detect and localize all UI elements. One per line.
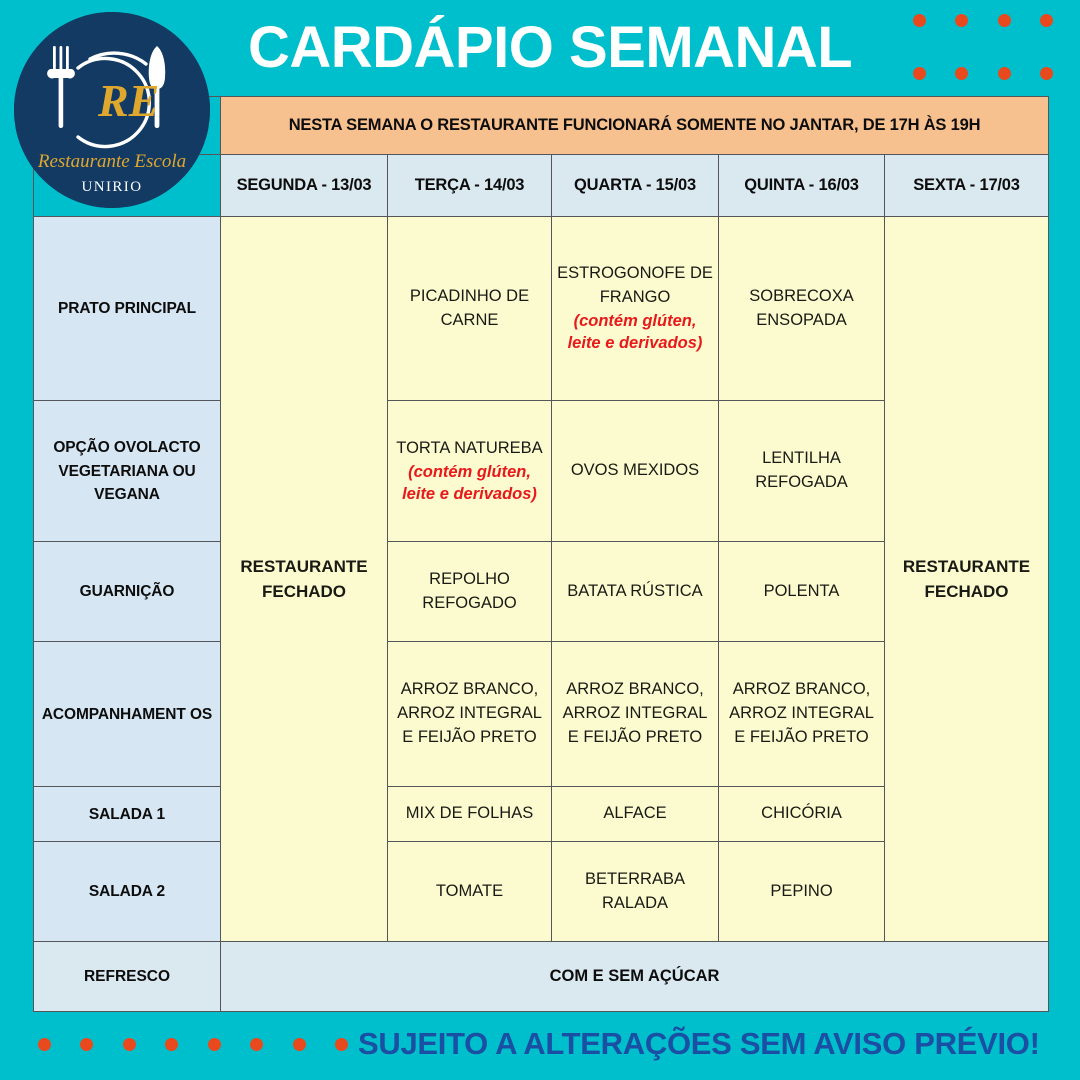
meal-cell: SOBRECOXA ENSOPADA <box>719 217 885 401</box>
refresco-value: COM E SEM AÇÚCAR <box>221 942 1049 1012</box>
decorative-dot <box>80 1038 93 1051</box>
closed-line-2: FECHADO <box>262 582 346 601</box>
footer-bar: SUJEITO A ALTERAÇÕES SEM AVISO PRÉVIO! <box>0 1012 1080 1080</box>
meal-cell: CHICÓRIA <box>719 787 885 842</box>
decorative-dot <box>123 1038 136 1051</box>
restaurant-logo: RE Restaurante Escola UNIRIO <box>14 12 210 208</box>
meal-cell: OVOS MEXIDOS <box>552 401 719 542</box>
decorative-dot <box>955 67 968 80</box>
row-label-guarnicao: GUARNIÇÃO <box>34 542 221 642</box>
meal-cell: REPOLHO REFOGADO <box>388 542 552 642</box>
decorative-dot <box>293 1038 306 1051</box>
meal-text: OVOS MEXIDOS <box>571 461 699 479</box>
meal-cell: ESTROGONOFE DE FRANGO (contém glúten, le… <box>552 217 719 401</box>
row-label-acompanhamentos: ACOMPANHAMENT OS <box>34 642 221 787</box>
closed-cell-segunda: RESTAURANTE FECHADO <box>221 217 388 942</box>
decorative-dot <box>250 1038 263 1051</box>
meal-cell: LENTILHA REFOGADA <box>719 401 885 542</box>
meal-cell: ARROZ BRANCO, ARROZ INTEGRAL E FEIJÃO PR… <box>552 642 719 787</box>
meal-cell: ALFACE <box>552 787 719 842</box>
meal-text: ALFACE <box>603 804 666 822</box>
meal-cell: POLENTA <box>719 542 885 642</box>
meal-text: PEPINO <box>770 882 832 900</box>
meal-text: SOBRECOXA ENSOPADA <box>749 287 854 329</box>
meal-text: TORTA NATUREBA <box>396 439 542 457</box>
weekly-menu-table: NESTA SEMANA O RESTAURANTE FUNCIONARÁ SO… <box>33 96 1049 1012</box>
day-header-segunda: SEGUNDA - 13/03 <box>221 155 388 217</box>
decorative-dot <box>955 14 968 27</box>
meal-text: BATATA RÚSTICA <box>567 582 702 600</box>
decorative-dot <box>335 1038 348 1051</box>
closed-line-1: RESTAURANTE <box>903 557 1030 576</box>
footer-disclaimer: SUJEITO A ALTERAÇÕES SEM AVISO PRÉVIO! <box>358 1020 1058 1068</box>
decorative-dot <box>998 14 1011 27</box>
row-label-opcao-vegetariana: OPÇÃO OVOLACTO VEGETARIANA OU VEGANA <box>34 401 221 542</box>
meal-cell: PICADINHO DE CARNE <box>388 217 552 401</box>
meal-cell: BETERRABA RALADA <box>552 842 719 942</box>
meal-text: ARROZ BRANCO, ARROZ INTEGRAL E FEIJÃO PR… <box>563 680 708 746</box>
closed-line-2: FECHADO <box>924 582 1008 601</box>
decorative-dot <box>1040 14 1053 27</box>
row-label-salada-2: SALADA 2 <box>34 842 221 942</box>
meal-cell: ARROZ BRANCO, ARROZ INTEGRAL E FEIJÃO PR… <box>388 642 552 787</box>
row-label-refresco: REFRESCO <box>34 942 221 1012</box>
refresco-row: REFRESCO COM E SEM AÇÚCAR <box>34 942 1049 1012</box>
decorative-dot <box>1040 67 1053 80</box>
allergen-note: (contém glúten, leite e derivados) <box>393 461 546 506</box>
decorative-dot <box>913 14 926 27</box>
row-label-prato-principal: PRATO PRINCIPAL <box>34 217 221 401</box>
logo-monogram: RE <box>97 75 159 126</box>
meal-cell: MIX DE FOLHAS <box>388 787 552 842</box>
decorative-dot <box>208 1038 221 1051</box>
logo-institution: UNIRIO <box>82 179 143 195</box>
meal-cell: BATATA RÚSTICA <box>552 542 719 642</box>
meal-text: TOMATE <box>436 882 503 900</box>
meal-text: ESTROGONOFE DE FRANGO <box>557 264 713 306</box>
menu-table-container: NESTA SEMANA O RESTAURANTE FUNCIONARÁ SO… <box>33 96 1048 1012</box>
meal-text: POLENTA <box>764 582 840 600</box>
meal-text: PICADINHO DE CARNE <box>410 287 529 329</box>
meal-text: LENTILHA REFOGADA <box>755 449 848 491</box>
allergen-line-1: (contém glúten, <box>408 463 531 481</box>
day-header-quarta: QUARTA - 15/03 <box>552 155 719 217</box>
decorative-dot <box>913 67 926 80</box>
decorative-dot <box>165 1038 178 1051</box>
meal-cell: ARROZ BRANCO, ARROZ INTEGRAL E FEIJÃO PR… <box>719 642 885 787</box>
decorative-dot <box>38 1038 51 1051</box>
meal-text: REPOLHO REFOGADO <box>422 570 516 612</box>
notice-banner: NESTA SEMANA O RESTAURANTE FUNCIONARÁ SO… <box>221 97 1049 155</box>
day-header-quinta: QUINTA - 16/03 <box>719 155 885 217</box>
logo-name: Restaurante Escola <box>37 151 186 172</box>
weekly-menu-poster: CARDÁPIO SEMANAL <box>0 0 1080 1080</box>
meal-text: CHICÓRIA <box>761 804 842 822</box>
meal-cell: TOMATE <box>388 842 552 942</box>
closed-line-1: RESTAURANTE <box>240 557 367 576</box>
meal-cell: PEPINO <box>719 842 885 942</box>
allergen-line-2: leite e derivados) <box>568 334 703 352</box>
footer-dot-row <box>38 1038 348 1051</box>
row-label-salada-1: SALADA 1 <box>34 787 221 842</box>
meal-cell: TORTA NATUREBA (contém glúten, leite e d… <box>388 401 552 542</box>
closed-cell-sexta: RESTAURANTE FECHADO <box>885 217 1049 942</box>
decorative-dot <box>998 67 1011 80</box>
meal-text: BETERRABA RALADA <box>585 870 685 912</box>
allergen-note: (contém glúten, leite e derivados) <box>557 310 713 355</box>
allergen-line-1: (contém glúten, <box>574 312 697 330</box>
header-dot-grid <box>898 14 1068 80</box>
meal-text: ARROZ BRANCO, ARROZ INTEGRAL E FEIJÃO PR… <box>397 680 542 746</box>
meal-text: MIX DE FOLHAS <box>406 804 533 822</box>
day-header-terca: TERÇA - 14/03 <box>388 155 552 217</box>
day-header-sexta: SEXTA - 17/03 <box>885 155 1049 217</box>
table-row: PRATO PRINCIPAL RESTAURANTE FECHADO PICA… <box>34 217 1049 401</box>
page-title: CARDÁPIO SEMANAL <box>248 6 878 90</box>
allergen-line-2: leite e derivados) <box>402 485 537 503</box>
meal-text: ARROZ BRANCO, ARROZ INTEGRAL E FEIJÃO PR… <box>729 680 874 746</box>
